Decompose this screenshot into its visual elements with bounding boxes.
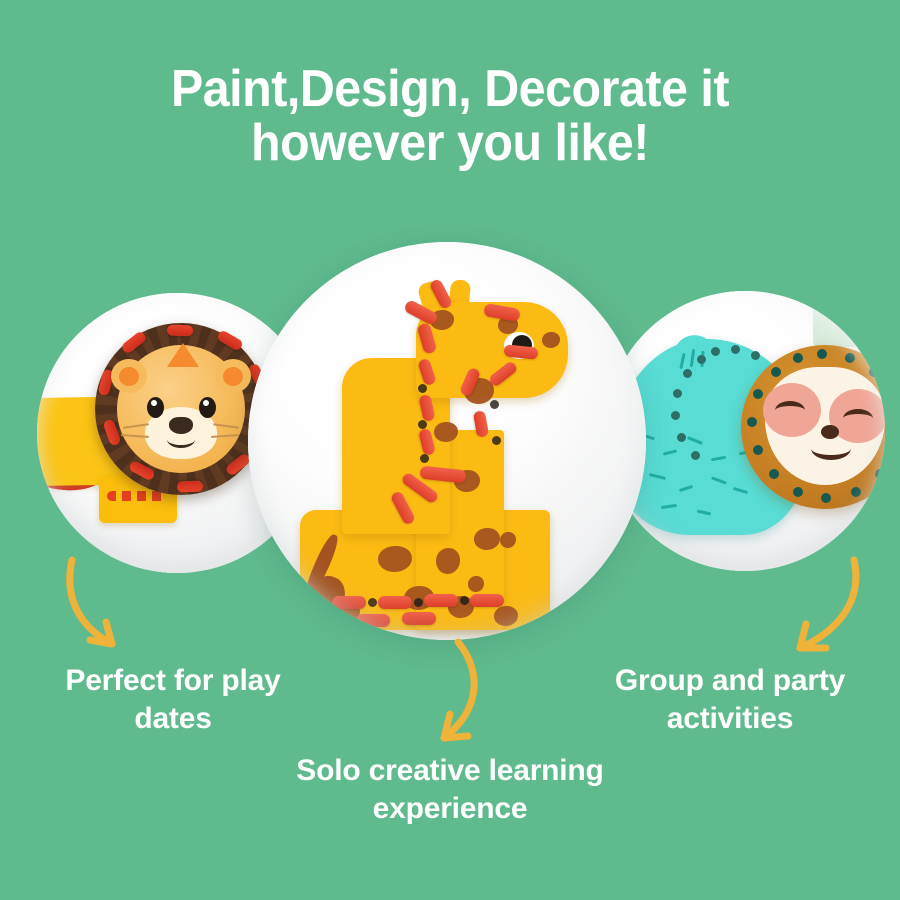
caption-solo-learning: Solo creative learning experience [240, 752, 660, 828]
lion-mouth [167, 431, 195, 448]
page-title: Paint,Design, Decorate it however you li… [32, 62, 869, 170]
sloth-arm [666, 329, 726, 393]
curved-arrow-down-left-icon [398, 636, 528, 758]
lion-eye-left [147, 397, 164, 418]
giraffe-photo [248, 242, 646, 640]
giraffe-toy [308, 280, 608, 620]
sloth-toy [615, 327, 885, 557]
sloth-photo [605, 291, 885, 571]
sloth-smile [811, 437, 851, 460]
lion-forehead-tuft [167, 343, 199, 367]
promo-poster: Paint,Design, Decorate it however you li… [0, 0, 900, 900]
sloth-face-plate [765, 367, 885, 485]
lion-face [117, 345, 245, 473]
caption-group-party: Group and party activities [575, 662, 885, 738]
sloth-eye-left [775, 401, 805, 420]
lion-leg-stitching [107, 491, 167, 501]
lion-ear-right [215, 359, 251, 393]
lion-mane-ring [95, 323, 267, 495]
caption-play-dates: Perfect for play dates [18, 662, 328, 738]
giraffe-photo-circle [248, 242, 646, 640]
curved-arrow-down-left-icon [758, 548, 878, 668]
sloth-photo-circle [605, 291, 885, 571]
lion-ear-left [111, 359, 147, 393]
curved-arrow-down-right-icon [48, 548, 168, 668]
lion-eye-right [199, 397, 216, 418]
sloth-eye-right [843, 409, 873, 428]
